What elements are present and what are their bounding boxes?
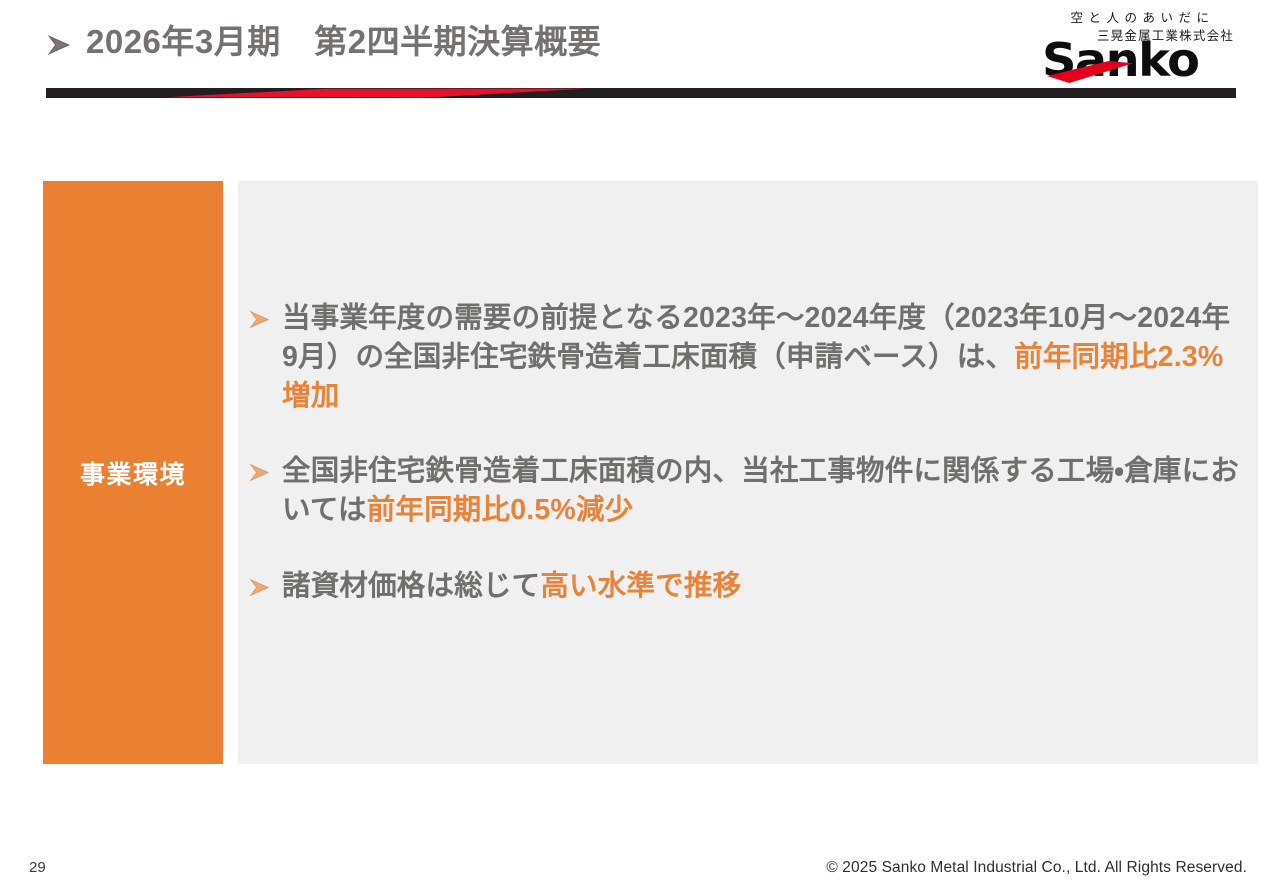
bullet-text: 諸資材価格は総じて高い水準で推移 (282, 567, 741, 606)
bullet-text-highlight: 前年同期比0.5%減少 (367, 494, 634, 526)
bullet-text: 全国非住宅鉄骨造着工床面積の内、当社工事物件に関係する工場・倉庫においては前年同… (282, 452, 1240, 530)
bullet-item: 当事業年度の需要の前提となる2023年～2024年度（2023年10月～2024… (248, 299, 1240, 415)
bullet-text: 当事業年度の需要の前提となる2023年～2024年度（2023年10月～2024… (282, 299, 1240, 415)
slide: 2026年3月期 第2四半期決算概要 空と人のあいだに 三晃金属工業株式会社 S… (0, 0, 1280, 886)
slide-content: 事業環境 当事業年度の需要の前提となる2023年～2024年度（2023年10月… (0, 0, 1280, 886)
slide-footer: 29 © 2025 Sanko Metal Industrial Co., Lt… (0, 842, 1280, 886)
bullet-item: 諸資材価格は総じて高い水準で推移 (248, 567, 1240, 606)
bullet-text-plain: 諸資材価格は総じて (282, 570, 540, 602)
copyright-notice: © 2025 Sanko Metal Industrial Co., Ltd. … (826, 859, 1247, 877)
page-number: 29 (29, 859, 46, 876)
bullet-panel: 当事業年度の需要の前提となる2023年～2024年度（2023年10月～2024… (238, 181, 1258, 764)
bullet-text-highlight: 高い水準で推移 (540, 570, 741, 602)
bullet-item: 全国非住宅鉄骨造着工床面積の内、当社工事物件に関係する工場・倉庫においては前年同… (248, 452, 1240, 530)
chevron-right-icon (248, 308, 271, 331)
chevron-right-icon (248, 461, 271, 484)
section-label-text: 事業環境 (80, 455, 186, 491)
chevron-right-icon (248, 576, 271, 599)
section-label-panel: 事業環境 (43, 181, 223, 764)
